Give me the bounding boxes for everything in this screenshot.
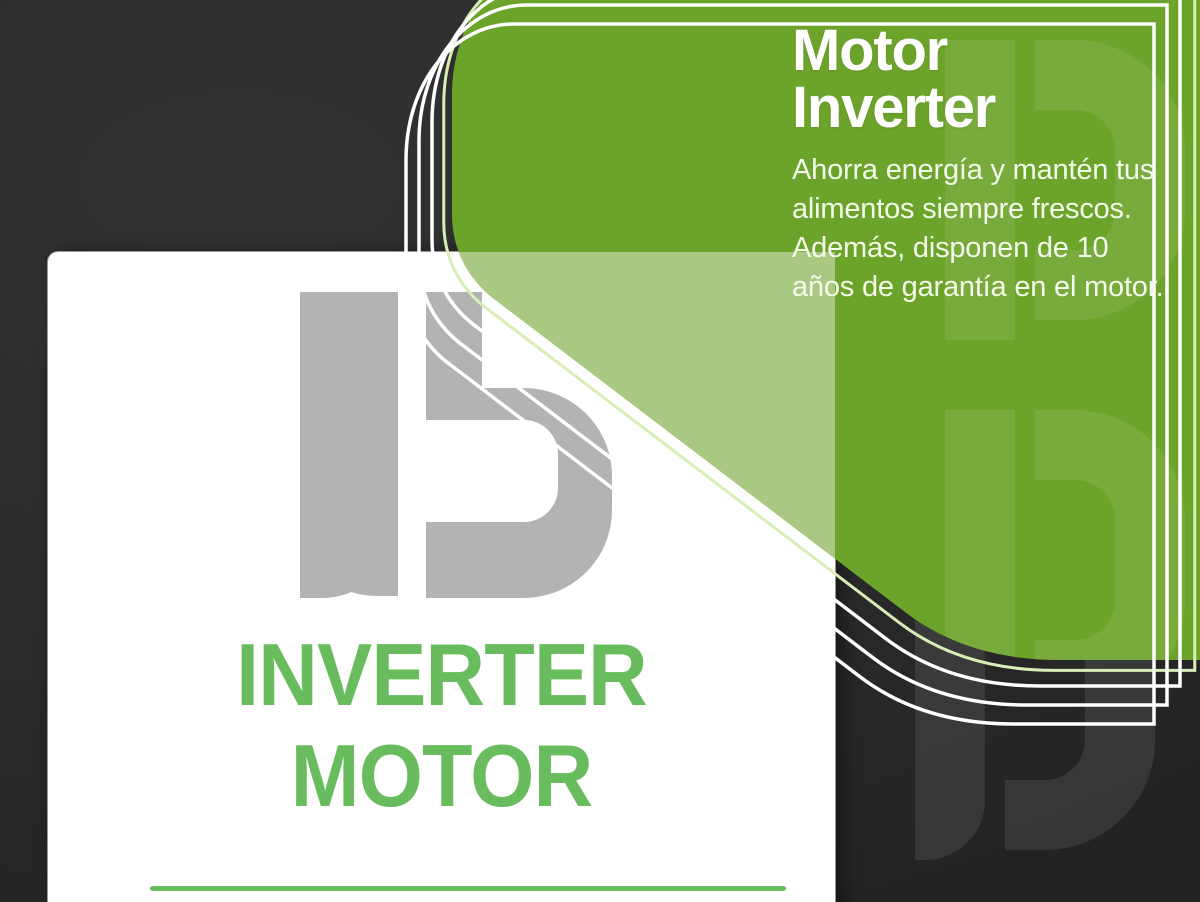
panel-title-line1: Motor xyxy=(792,18,947,83)
ib-brand-logo-icon xyxy=(280,274,660,614)
card-title-line2: MOTOR xyxy=(72,725,812,826)
card-divider xyxy=(150,886,786,891)
card-title-line1: INVERTER xyxy=(236,625,647,724)
panel-copy: Motor Inverter Ahorra energía y mantén t… xyxy=(792,22,1172,307)
panel-body-text: Ahorra energía y mantén tus alimentos si… xyxy=(792,151,1172,308)
panel-title: Motor Inverter xyxy=(792,22,1172,137)
panel-title-line2: Inverter xyxy=(792,79,1172,136)
product-card: INVERTER MOTOR xyxy=(48,252,835,902)
card-title: INVERTER MOTOR xyxy=(72,624,812,826)
promo-banner: INVERTER MOTOR xyxy=(0,0,1200,902)
